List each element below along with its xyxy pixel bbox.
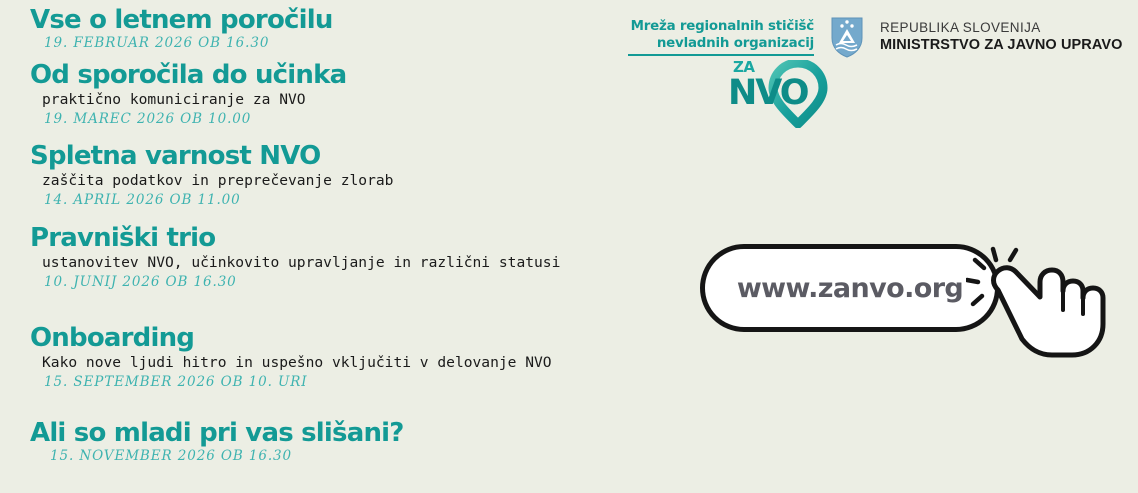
event-date: 19. FEBRUAR 2026 OB 16.30	[44, 35, 333, 53]
ministry-text: REPUBLIKA SLOVENIJA MINISTRSTVO ZA JAVNO…	[880, 20, 1123, 55]
logo-bar: Mreža regionalnih stičišč nevladnih orga…	[598, 0, 1138, 135]
event-date: 15. SEPTEMBER 2026 OB 10. URI	[44, 374, 552, 392]
website-url-label: www.zanvo.org	[737, 273, 963, 304]
event-item: Spletna varnost NVO zaščita podatkov in …	[30, 142, 393, 210]
event-subtitle: ustanovitev NVO, učinkovito upravljanje …	[42, 254, 560, 273]
event-item: Pravniški trio ustanovitev NVO, učinkovi…	[30, 224, 560, 292]
event-item: Vse o letnem poročilu 19. FEBRUAR 2026 O…	[30, 6, 333, 53]
ministry-line2: MINISTRSTVO ZA JAVNO UPRAVO	[880, 36, 1123, 54]
event-date: 10. JUNIJ 2026 OB 16.30	[44, 274, 560, 292]
event-item: Onboarding Kako nove ljudi hitro in uspe…	[30, 324, 552, 392]
zanvo-nvo-label: NVO	[728, 73, 808, 113]
event-subtitle: praktično komuniciranje za NVO	[42, 91, 346, 110]
network-logo-line1: Mreža regionalnih stičišč	[614, 18, 814, 35]
ministry-line1: REPUBLIKA SLOVENIJA	[880, 20, 1123, 37]
network-logo: Mreža regionalnih stičišč nevladnih orga…	[614, 18, 814, 56]
event-title: Vse o letnem poročilu	[30, 6, 333, 34]
event-item: Od sporočila do učinka praktično komunic…	[30, 61, 346, 129]
ministry-logo: REPUBLIKA SLOVENIJA MINISTRSTVO ZA JAVNO…	[830, 16, 1123, 58]
pointing-hand-click-icon	[966, 238, 1116, 363]
zanvo-logo: ZA NVO	[728, 58, 836, 128]
event-title: Spletna varnost NVO	[30, 142, 393, 170]
event-list: Vse o letnem poročilu 19. FEBRUAR 2026 O…	[0, 0, 680, 493]
event-title: Onboarding	[30, 324, 552, 352]
website-url-button[interactable]: www.zanvo.org	[700, 244, 1000, 332]
event-title: Pravniški trio	[30, 224, 560, 252]
event-title: Ali so mladi pri vas slišani?	[30, 419, 404, 447]
network-logo-underline	[628, 54, 814, 56]
event-date: 14. APRIL 2026 OB 11.00	[44, 192, 393, 210]
website-callout: www.zanvo.org	[690, 238, 1120, 363]
event-title: Od sporočila do učinka	[30, 61, 346, 89]
event-date: 15. NOVEMBER 2026 OB 16.30	[50, 448, 404, 466]
event-date: 19. MAREC 2026 OB 10.00	[44, 111, 346, 129]
event-item: Ali so mladi pri vas slišani? 15. NOVEMB…	[30, 419, 404, 466]
event-subtitle: zaščita podatkov in preprečevanje zlorab	[42, 172, 393, 191]
event-subtitle: Kako nove ljudi hitro in uspešno vključi…	[42, 354, 552, 373]
network-logo-line2: nevladnih organizacij	[614, 35, 814, 52]
slovenia-coat-of-arms-icon	[830, 16, 864, 58]
